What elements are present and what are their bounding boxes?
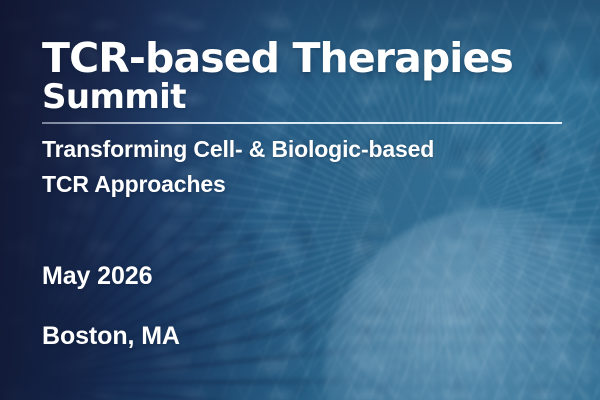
event-date: May 2026 <box>42 262 152 291</box>
title-divider <box>42 122 562 124</box>
event-location: Boston, MA <box>42 322 180 351</box>
event-subtitle: Transforming Cell- & Biologic-based TCR … <box>42 132 582 202</box>
banner-content: TCR-based Therapies Summit Transforming … <box>42 0 600 400</box>
event-subtitle-line-2: TCR Approaches <box>42 167 582 202</box>
event-subtitle-line-1: Transforming Cell- & Biologic-based <box>42 132 582 167</box>
event-banner: TCR-based Therapies Summit Transforming … <box>0 0 600 400</box>
event-title-line-1: TCR-based Therapies <box>42 36 513 80</box>
event-title-line-2: Summit <box>42 78 186 116</box>
